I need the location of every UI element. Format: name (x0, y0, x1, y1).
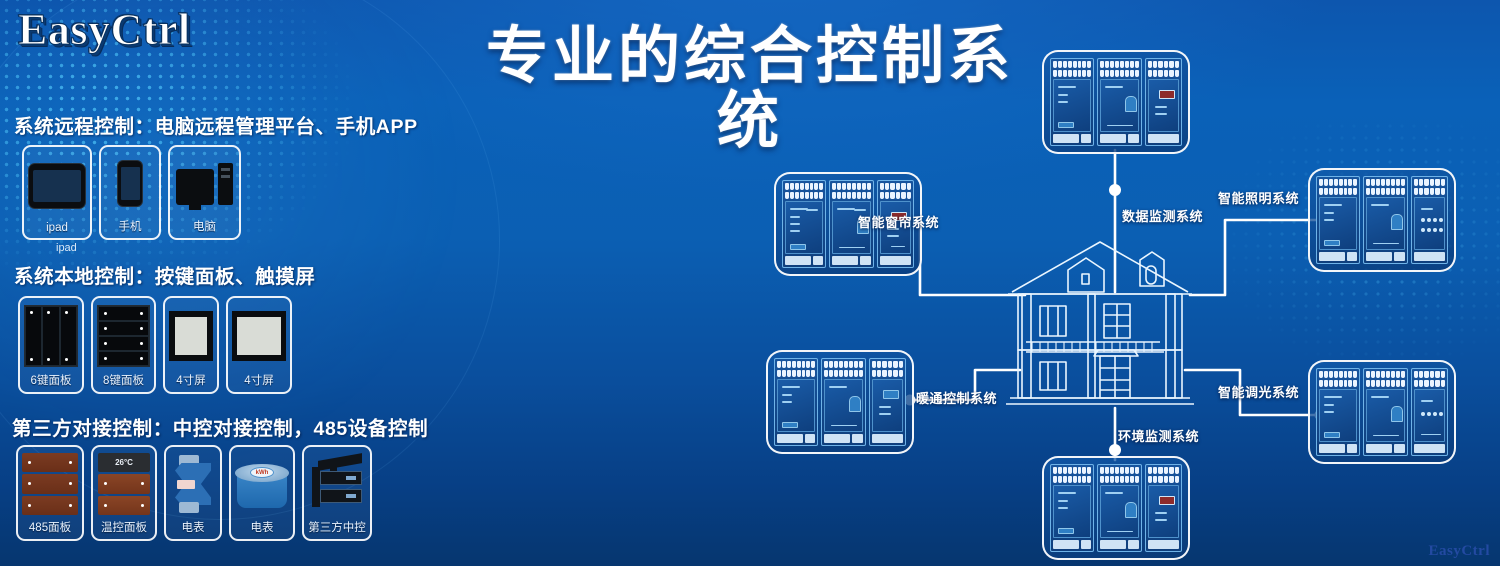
device-caption: 第三方中控 (308, 519, 366, 535)
device-row-thirdparty: 485面板 26°C 温控面板 电表 kWh 电表 (16, 445, 372, 541)
device-caption: 温控面板 (101, 519, 147, 535)
node-hvac-controller[interactable] (766, 350, 914, 454)
six-key-panel-icon (24, 304, 78, 368)
thermostat-panel-icon: 26°C (97, 453, 151, 515)
device-card-6key[interactable]: 6键面板 (18, 296, 84, 394)
device-caption: 8键面板 (103, 372, 144, 388)
node-label-hvac: 暖通控制系统 (916, 388, 997, 407)
device-caption: 485面板 (29, 519, 71, 535)
rs485-panel-icon (22, 453, 78, 515)
device-card-ipad[interactable]: ipad (22, 145, 92, 240)
node-dimming-controller[interactable] (1308, 360, 1456, 464)
section-heading-thirdparty: 第三方对接控制：中控对接控制，485设备控制 (12, 412, 428, 441)
device-caption: 电表 (251, 519, 274, 535)
device-caption: 4寸屏 (244, 372, 273, 388)
device-card-meter-b[interactable]: kWh 电表 (229, 445, 295, 541)
four-inch-screen-icon (169, 304, 213, 368)
house-line-art-icon (1000, 230, 1200, 408)
node-environment-controller[interactable] (1042, 456, 1190, 560)
device-card-8key[interactable]: 8键面板 (91, 296, 156, 394)
device-card-485panel[interactable]: 485面板 (16, 445, 84, 541)
node-label-curtain: 智能窗帘系统 (858, 212, 939, 231)
system-topology-diagram: 智能窗帘系统 (720, 40, 1500, 566)
din-rail-controller-icon (1050, 58, 1182, 146)
device-row-remote: ipad 手机 电脑 (22, 145, 241, 240)
smartphone-icon (105, 153, 155, 214)
round-energy-meter-icon: kWh (235, 453, 289, 515)
device-card-thermostat[interactable]: 26°C 温控面板 (91, 445, 157, 541)
poster-canvas: EasyCtrl 专业的综合控制系统 系统远程控制：电脑远程管理平台、手机APP… (0, 0, 1500, 566)
device-card-screen-4in-a[interactable]: 4寸屏 (163, 296, 219, 394)
meter-reading: kWh (250, 467, 274, 478)
device-row-local: 6键面板 8键面板 4寸屏 4寸屏 (18, 296, 292, 394)
stray-ipad-caption: ipad (56, 242, 77, 254)
din-rail-controller-icon (1316, 368, 1448, 456)
node-label-data: 数据监测系统 (1122, 206, 1203, 225)
device-caption: 手机 (119, 218, 142, 234)
section-heading-local: 系统本地控制：按键面板、触摸屏 (14, 260, 316, 289)
node-label-environment: 环境监测系统 (1118, 426, 1199, 445)
wire-node-dot (1109, 444, 1121, 456)
device-caption: ipad (46, 222, 68, 234)
device-caption: 6键面板 (31, 372, 72, 388)
energy-meter-icon (170, 453, 216, 515)
device-card-screen-4in-b[interactable]: 4寸屏 (226, 296, 292, 394)
watermark: EasyCtrl (1429, 543, 1491, 560)
four-inch-screen-wide-icon (232, 304, 286, 368)
node-data-monitor-controller[interactable] (1042, 50, 1190, 154)
device-caption: 4寸屏 (176, 372, 205, 388)
tablet-icon (28, 153, 86, 218)
device-card-computer[interactable]: 电脑 (168, 145, 241, 240)
node-label-dimming: 智能调光系统 (1218, 382, 1299, 401)
din-rail-controller-icon (1316, 176, 1448, 264)
node-lighting-controller[interactable] (1308, 168, 1456, 272)
device-card-meter-a[interactable]: 电表 (164, 445, 222, 541)
brand-logo: EasyCtrl (18, 4, 191, 55)
node-label-lighting: 智能照明系统 (1218, 188, 1299, 207)
thermostat-temperature-display: 26°C (98, 453, 150, 472)
din-rail-controller-icon (774, 358, 906, 446)
device-caption: 电表 (182, 519, 205, 535)
din-rail-controller-icon (1050, 464, 1182, 552)
device-caption: 电脑 (193, 218, 216, 234)
section-heading-remote: 系统远程控制：电脑远程管理平台、手机APP (14, 110, 418, 139)
device-card-thirdparty-controller[interactable]: 第三方中控 (302, 445, 372, 541)
third-party-controller-icon (308, 453, 366, 515)
device-card-phone[interactable]: 手机 (99, 145, 161, 240)
desktop-computer-icon (174, 153, 235, 214)
eight-key-panel-icon (97, 304, 150, 368)
wire-node-dot (1109, 184, 1121, 196)
